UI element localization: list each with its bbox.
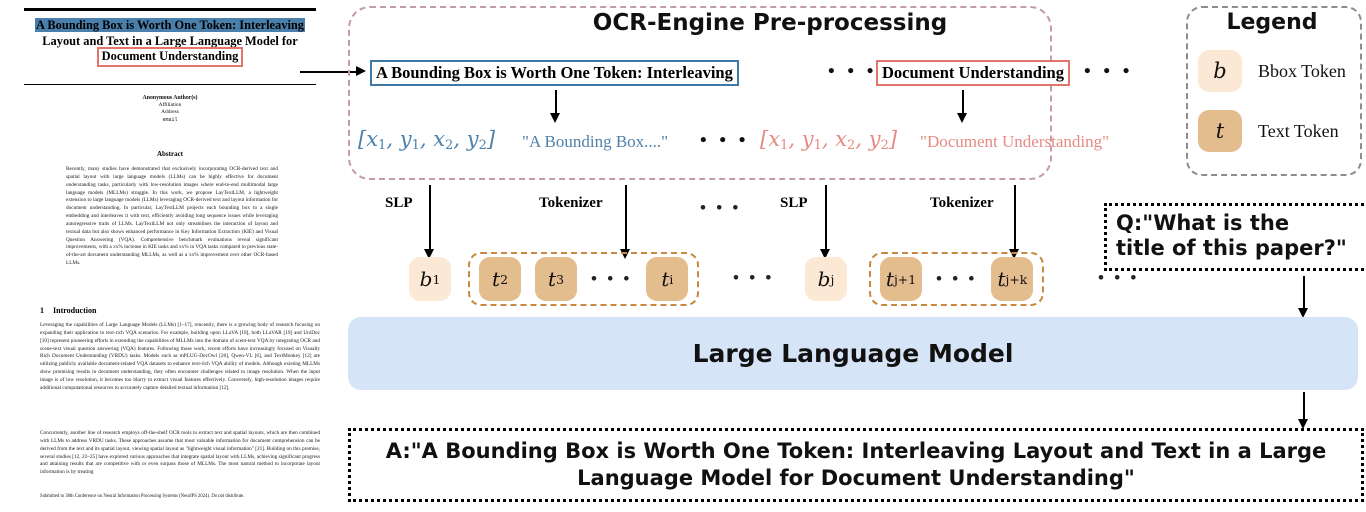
large-language-model-band: Large Language Model — [348, 317, 1358, 390]
token-tjk-superscript: j+k — [1006, 272, 1028, 287]
token-t3-superscript: 3 — [556, 272, 564, 287]
paper-authors: Anonymous Author(s) Affiliation Address … — [22, 95, 318, 124]
author-email: email — [22, 117, 318, 124]
author-affiliation: Affiliation — [22, 102, 318, 109]
ocr-token-dots: • • • — [700, 130, 749, 152]
legend-title: Legend — [1186, 10, 1358, 35]
token-t2-superscript: 2 — [500, 272, 508, 287]
token-tj1: tj+1 — [880, 257, 922, 301]
bbox-token-string-red: [x1, y1, x2, y2] — [760, 127, 897, 153]
intro-paragraph-1: Leveraging the capabilities of Large Lan… — [40, 322, 320, 393]
token-b1-superscript: 1 — [432, 272, 440, 287]
section-number: 1 — [40, 306, 44, 315]
question-line-2: title of this paper?" — [1116, 236, 1366, 261]
legend-bbox-chip: b — [1198, 50, 1242, 92]
token-group-text-1: t2 t3 • • • ti — [468, 252, 699, 306]
arrow-tok1-line — [625, 185, 627, 253]
operations-mid-dots: • • • — [700, 198, 741, 218]
llm-label: Large Language Model — [693, 339, 1014, 368]
question-line-1: Q:"What is the — [1116, 211, 1366, 236]
text-token-string-red: "Document Understanding" — [920, 132, 1109, 152]
legend-item-bbox: b Bbox Token — [1198, 50, 1346, 92]
legend-text-chip: t — [1198, 110, 1242, 152]
arrow-seg1-head — [550, 113, 560, 123]
ocr-segment-red: Document Understanding — [876, 60, 1070, 86]
paper-title: A Bounding Box is Worth One Token: Inter… — [22, 18, 318, 65]
ocr-segment-blue: A Bounding Box is Worth One Token: Inter… — [370, 60, 739, 86]
token-t2: t2 — [479, 257, 521, 301]
label-tokenizer-1: Tokenizer — [539, 195, 603, 212]
paper-second-rule — [24, 84, 316, 85]
token-bj-superscript: j — [830, 272, 834, 287]
label-slp-1: SLP — [385, 195, 413, 212]
token-group-text-2: tj+1 • • • tj+k — [869, 252, 1044, 306]
token-ti-symbol: t — [661, 267, 669, 291]
paper-title-line1-highlight: A Bounding Box is Worth One Token: Inter… — [35, 18, 305, 32]
paper-top-rule — [24, 8, 316, 11]
section-title: Introduction — [53, 306, 96, 315]
text-token-string-blue: "A Bounding Box...." — [522, 132, 668, 152]
label-slp-2: SLP — [780, 195, 808, 212]
legend-text-label: Text Token — [1258, 121, 1339, 142]
token-t3: t3 — [535, 257, 577, 301]
token-group-1-dots: • • • — [591, 269, 632, 289]
token-bj: bj — [805, 257, 847, 301]
abstract-body: Recently, many studies have demonstrated… — [66, 166, 278, 268]
answer-box: A:"A Bounding Box is Worth One Token: In… — [348, 428, 1364, 502]
bbox-token-string-blue: [x1, y1, x2, y2] — [358, 127, 495, 153]
section-heading: 1Introduction — [40, 306, 96, 315]
token-row-dots-tail: • • • — [1098, 268, 1139, 288]
line-number-column — [26, 166, 38, 496]
label-tokenizer-2: Tokenizer — [930, 195, 994, 212]
intro-paragraph-2: Concurrently, another line of research e… — [40, 430, 320, 477]
arrow-tok2-line — [1014, 185, 1016, 253]
token-bj-symbol: b — [818, 267, 831, 291]
token-tj1-superscript: j+1 — [894, 272, 916, 287]
paper-preview: A Bounding Box is Worth One Token: Inter… — [0, 0, 338, 512]
token-row-dots-between: • • • — [733, 268, 774, 288]
question-box: Q:"What is the title of this paper?" — [1104, 203, 1366, 271]
arrow-slp1-line — [429, 185, 431, 253]
token-b1-symbol: b — [420, 267, 433, 291]
token-t2-symbol: t — [492, 267, 500, 291]
token-tjk: tj+k — [991, 257, 1033, 301]
ocr-panel-title: OCR-Engine Pre-processing — [560, 10, 980, 36]
token-b1: b1 — [409, 257, 451, 301]
paper-footnote: Submitted to 38th Conference on Neural I… — [40, 494, 320, 499]
legend-item-text: t Text Token — [1198, 110, 1339, 152]
legend-bbox-label: Bbox Token — [1258, 61, 1346, 82]
token-ti-superscript: i — [669, 272, 673, 287]
arrow-question-to-llm-line — [1303, 276, 1305, 312]
token-tjk-symbol: t — [997, 267, 1005, 291]
token-tj1-symbol: t — [886, 267, 894, 291]
token-group-2-dots: • • • — [936, 269, 977, 289]
ocr-dots-2: • • • — [1084, 61, 1133, 83]
arrow-seg2-head — [957, 113, 967, 123]
token-ti: ti — [646, 257, 688, 301]
paper-title-line3-highlight: Document Understanding — [99, 49, 242, 65]
abstract-heading: Abstract — [22, 150, 318, 158]
answer-text: A:"A Bounding Box is Worth One Token: In… — [351, 438, 1361, 492]
author-address: Address — [22, 109, 318, 116]
token-t3-symbol: t — [548, 267, 556, 291]
arrow-slp2-line — [825, 185, 827, 253]
paper-title-line2: Layout and Text in a Large Language Mode… — [42, 34, 297, 48]
ocr-dots-1: • • • — [828, 61, 877, 83]
